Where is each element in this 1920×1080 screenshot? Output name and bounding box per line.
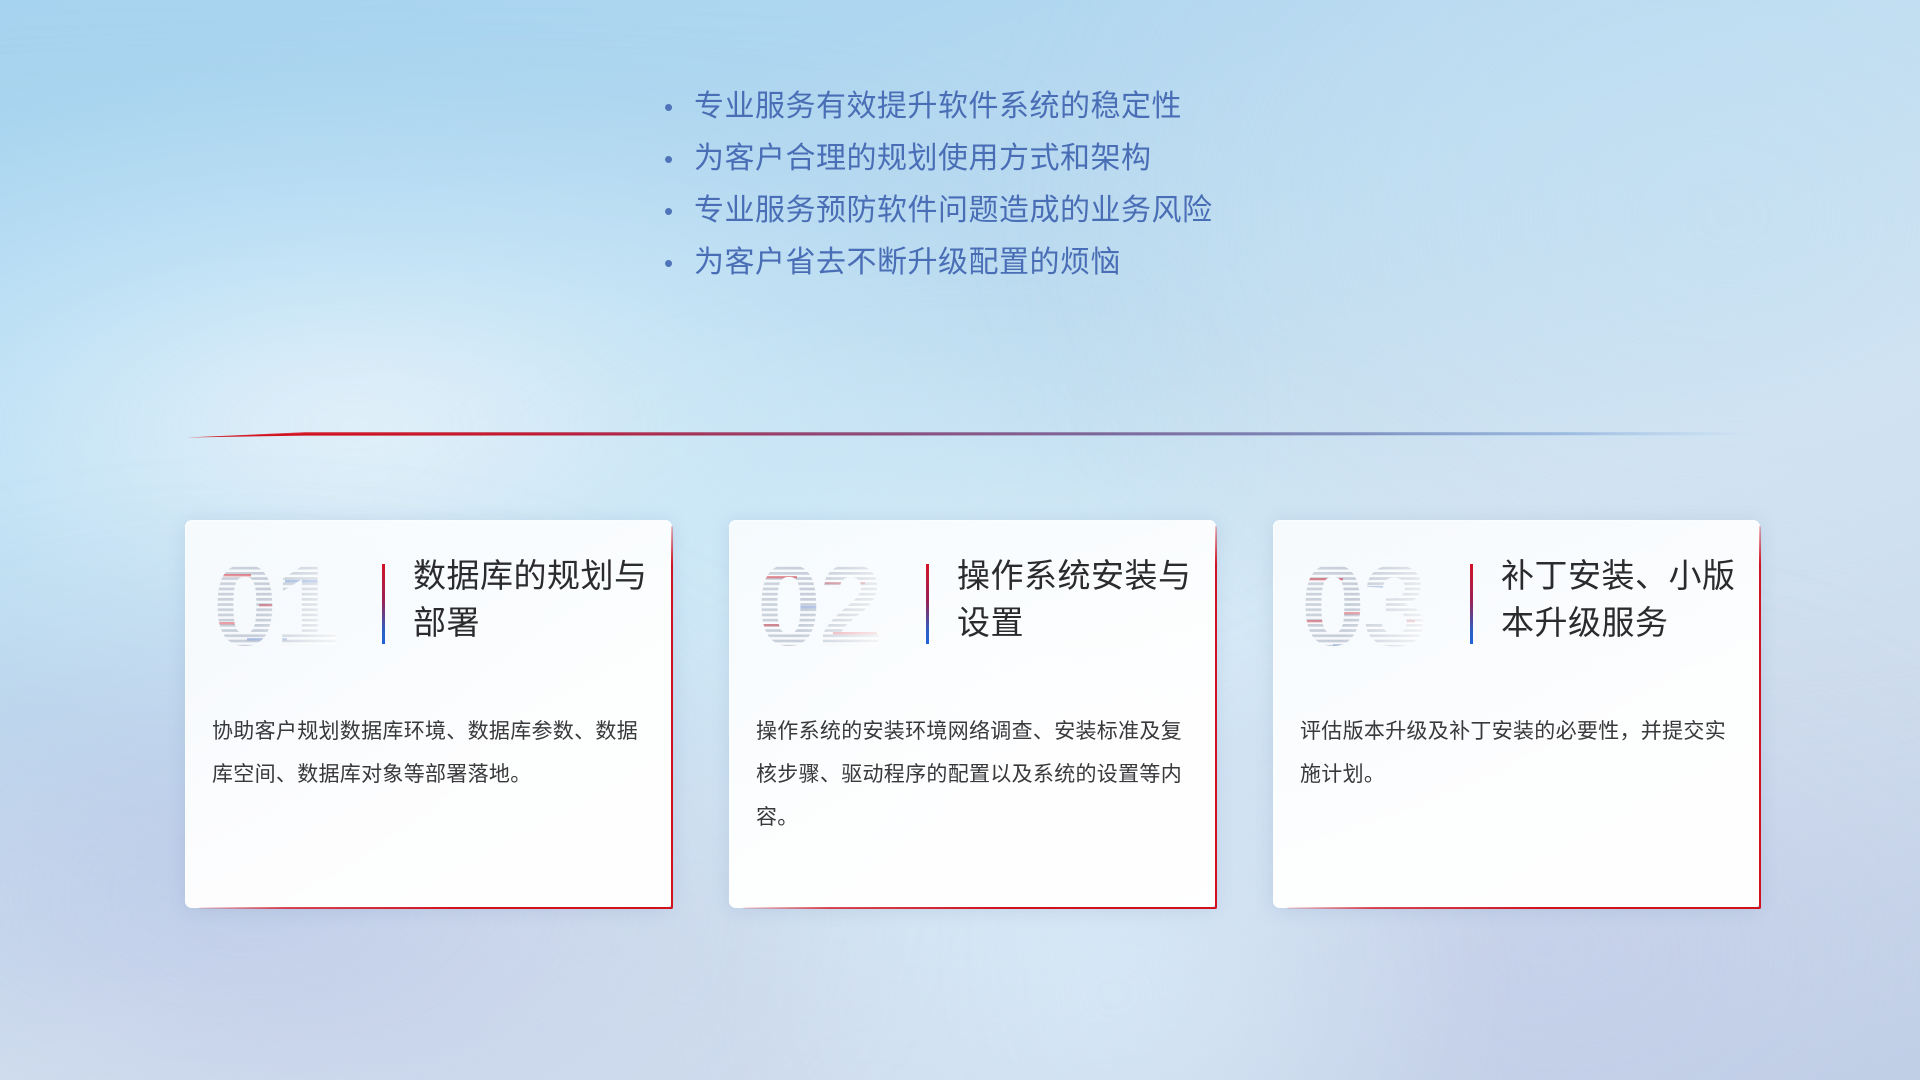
card-title: 操作系统安装与设置 (957, 552, 1200, 646)
bullet-item: • 为客户合理的规划使用方式和架构 (660, 144, 1460, 196)
card-number-01-graphic: 01 (211, 546, 356, 671)
card-accent-right-border (1759, 526, 1761, 909)
bullet-label: 为客户省去不断升级配置的烦恼 (694, 248, 1121, 278)
bullet-dot-icon: • (660, 198, 694, 224)
bullet-dot-icon: • (660, 146, 694, 172)
bullet-label: 专业服务预防软件问题造成的业务风险 (694, 196, 1213, 226)
benefits-bullet-list: • 专业服务有效提升软件系统的稳定性 • 为客户合理的规划使用方式和架构 • 专… (660, 92, 1460, 300)
bullet-dot-icon: • (660, 250, 694, 276)
bullet-item: • 专业服务有效提升软件系统的稳定性 (660, 92, 1460, 144)
service-card[interactable]: 02 操作系统安装与设置 操 (729, 520, 1216, 908)
bullet-item: • 专业服务预防软件问题造成的业务风险 (660, 196, 1460, 248)
card-number-02-graphic: 02 (755, 546, 900, 671)
card-title: 数据库的规划与部署 (413, 552, 656, 646)
slide-root: • 专业服务有效提升软件系统的稳定性 • 为客户合理的规划使用方式和架构 • 专… (0, 0, 1920, 1080)
bullet-item: • 为客户省去不断升级配置的烦恼 (660, 248, 1460, 300)
card-body-text: 评估版本升级及补丁安装的必要性，并提交实施计划。 (1300, 710, 1738, 796)
card-accent-right-border (671, 526, 673, 909)
card-accent-bottom-border (743, 907, 1217, 909)
section-divider (185, 424, 1755, 444)
bullet-label: 专业服务有效提升软件系统的稳定性 (694, 92, 1182, 122)
card-title: 补丁安装、小版本升级服务 (1501, 552, 1744, 646)
bullet-label: 为客户合理的规划使用方式和架构 (694, 144, 1152, 174)
card-body-text: 操作系统的安装环境网络调查、安装标准及复核步骤、驱动程序的配置以及系统的设置等内… (756, 710, 1194, 839)
bullet-dot-icon: • (660, 94, 694, 120)
card-body-text: 协助客户规划数据库环境、数据库参数、数据库空间、数据库对象等部署落地。 (212, 710, 650, 796)
card-accent-bottom-border (199, 907, 673, 909)
card-title-rule (1470, 564, 1473, 644)
card-accent-bottom-border (1287, 907, 1761, 909)
card-title-rule (382, 564, 385, 644)
card-title-rule (926, 564, 929, 644)
service-card[interactable]: 01 数据库的规划与部署 协 (185, 520, 672, 908)
card-number-03-graphic: 03 (1299, 546, 1444, 671)
service-cards-row: 01 数据库的规划与部署 协 (185, 520, 1760, 920)
service-card[interactable]: 03 补丁安装、小版本升级服务 (1273, 520, 1760, 908)
card-accent-right-border (1215, 526, 1217, 909)
